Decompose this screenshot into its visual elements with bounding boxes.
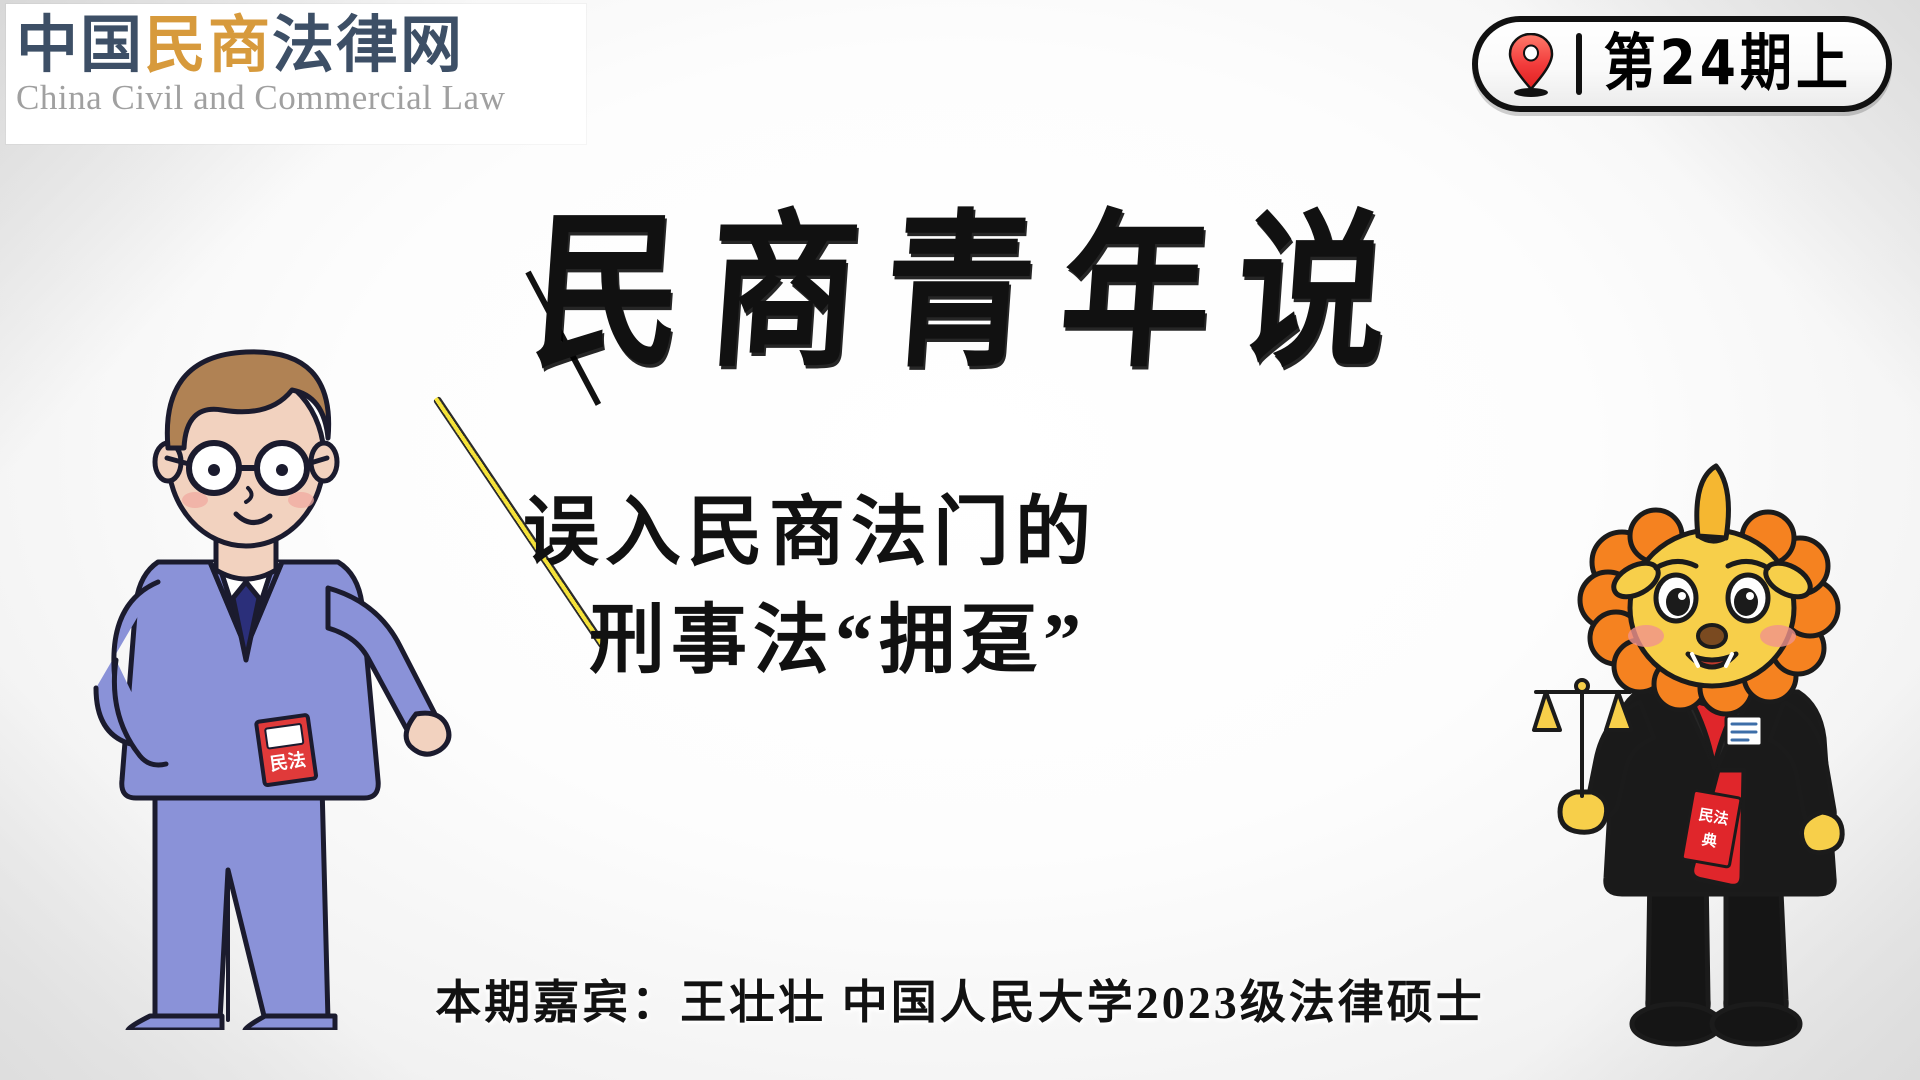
site-logo[interactable]: 中国民商法律网 China Civil and Commercial Law <box>6 4 586 144</box>
pin-shadow <box>1514 88 1548 97</box>
subtitle-block: 误入民商法门的 刑事法“拥趸” <box>430 480 1190 696</box>
logo-text-part3: 法律网 <box>272 8 464 81</box>
site-logo-chinese: 中国民商法律网 <box>6 4 586 76</box>
badge-divider <box>1576 33 1582 95</box>
student-presenter-illustration: 民法 <box>60 330 480 1030</box>
location-pin-icon <box>1508 33 1554 95</box>
guest-credit-line: 本期嘉宾：王壮壮 中国人民大学2023级法律硕士 <box>0 966 1920 1032</box>
logo-text-part1: 中国 <box>16 8 144 81</box>
subtitle-line-2: 刑事法“拥趸” <box>430 588 1190 696</box>
episode-label: 第24期上 <box>1604 33 1852 94</box>
episode-badge[interactable]: 第24期上 <box>1472 16 1892 112</box>
svg-text:典: 典 <box>1701 830 1719 850</box>
page-title: 民商青年说 <box>0 209 1920 377</box>
logo-text-part2: 民商 <box>144 8 272 81</box>
site-logo-english: China Civil and Commercial Law <box>6 76 586 118</box>
poster-canvas: 中国民商法律网 China Civil and Commercial Law 第… <box>0 0 1920 1080</box>
subtitle-line-1: 误入民商法门的 <box>430 480 1190 588</box>
